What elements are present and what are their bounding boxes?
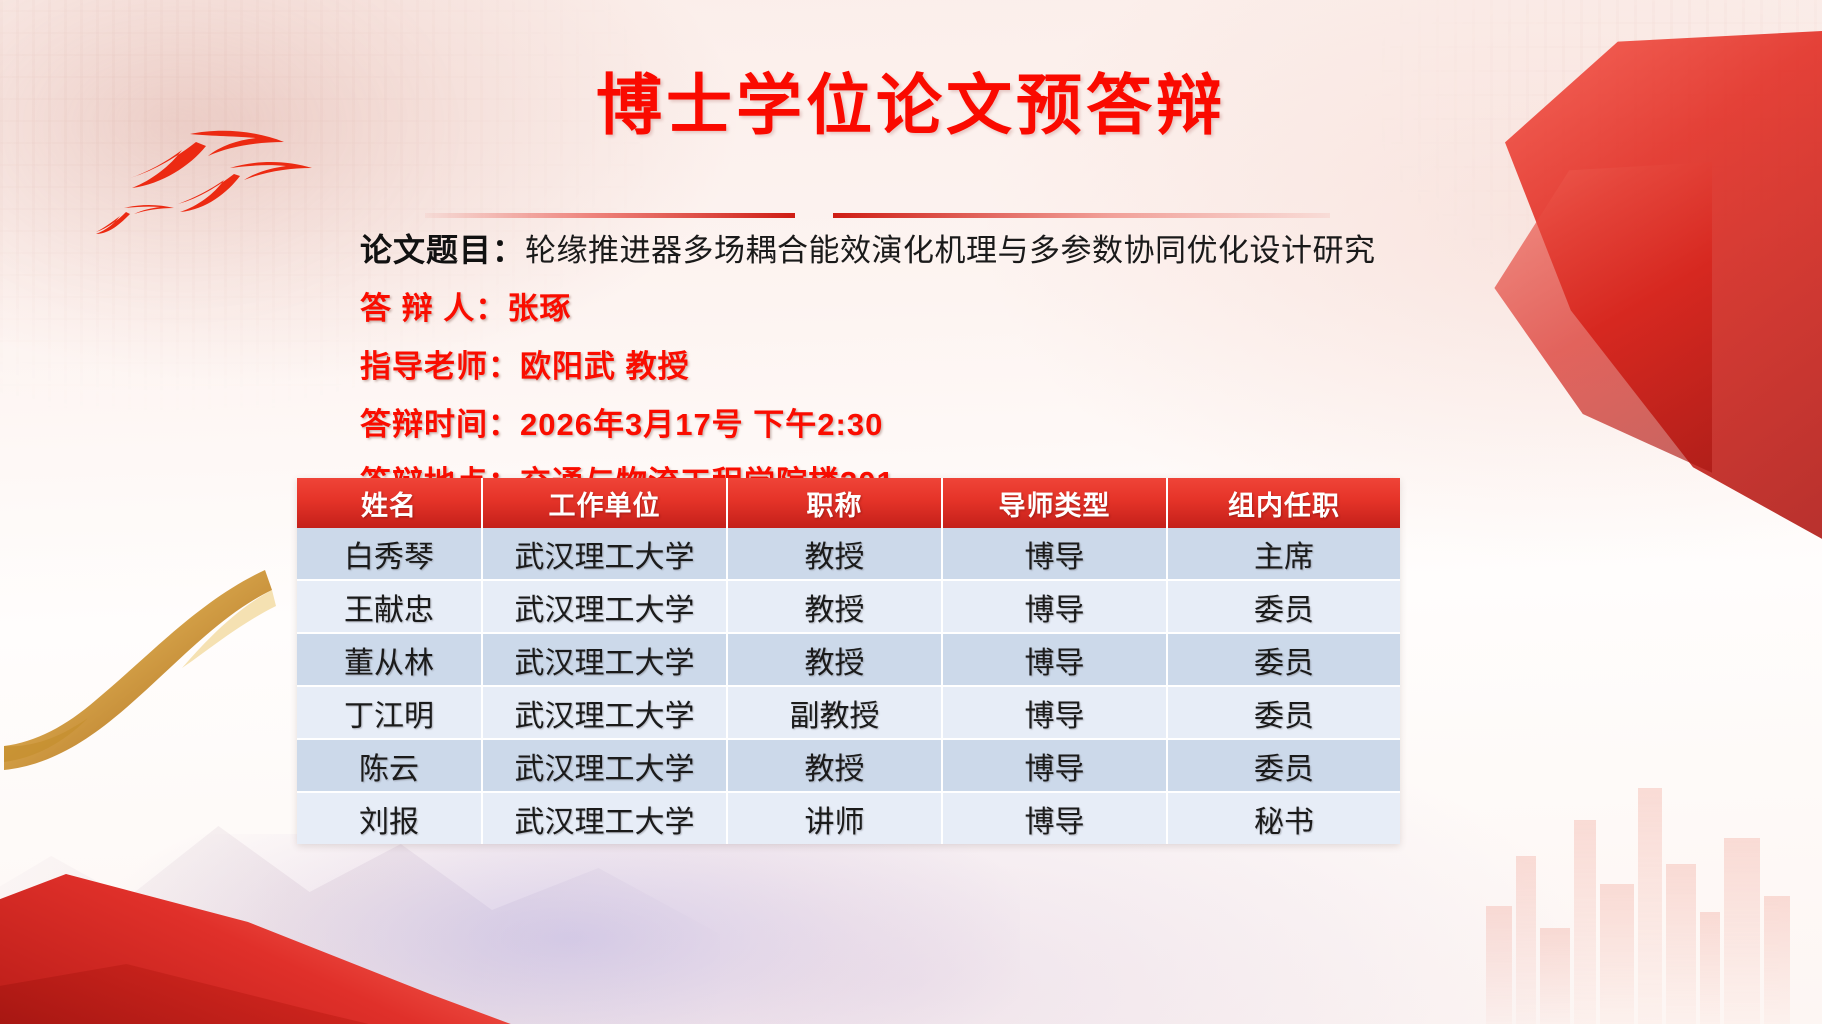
table-row: 陈云 武汉理工大学 教授 博导 委员 — [297, 739, 1400, 792]
table-row: 刘报 武汉理工大学 讲师 博导 秘书 — [297, 792, 1400, 844]
table-row: 王献忠 武汉理工大学 教授 博导 委员 — [297, 580, 1400, 633]
cell-name: 刘报 — [297, 792, 482, 844]
table-row: 董从林 武汉理工大学 教授 博导 委员 — [297, 633, 1400, 686]
column-header-name: 姓名 — [297, 478, 482, 528]
cell-title: 副教授 — [727, 686, 942, 739]
table-header-row: 姓名 工作单位 职称 导师类型 组内任职 — [297, 478, 1400, 528]
committee-table: 姓名 工作单位 职称 导师类型 组内任职 白秀琴 武汉理工大学 教授 博导 主席… — [297, 478, 1400, 844]
cell-name: 丁江明 — [297, 686, 482, 739]
divider-segment-left — [425, 213, 795, 218]
cell-role: 秘书 — [1167, 792, 1400, 844]
city-skyline-icon — [1482, 734, 1812, 1024]
page-title: 博士学位论文预答辩 — [0, 52, 1822, 148]
divider-gap — [795, 213, 833, 218]
cell-institution: 武汉理工大学 — [482, 580, 727, 633]
cell-title: 讲师 — [727, 792, 942, 844]
column-header-advisor-type: 导师类型 — [942, 478, 1167, 528]
presentation-slide: 博士学位论文预答辩 论文题目：轮缘推进器多场耦合能效演化机理与多参数协同优化设计… — [0, 0, 1822, 1024]
cell-advisor-type: 博导 — [942, 528, 1167, 580]
cell-institution: 武汉理工大学 — [482, 633, 727, 686]
table-row: 白秀琴 武汉理工大学 教授 博导 主席 — [297, 528, 1400, 580]
candidate-row: 答 辩 人：张琢 — [360, 283, 1410, 341]
table-row: 丁江明 武汉理工大学 副教授 博导 委员 — [297, 686, 1400, 739]
advisor-label: 指导老师： — [360, 349, 520, 384]
cell-advisor-type: 博导 — [942, 792, 1167, 844]
time-value: 2026年3月17号 下午2:30 — [520, 407, 883, 442]
cell-institution: 武汉理工大学 — [482, 686, 727, 739]
cell-advisor-type: 博导 — [942, 633, 1167, 686]
time-label: 答辩时间： — [360, 407, 520, 442]
cell-advisor-type: 博导 — [942, 686, 1167, 739]
bottom-glow-decoration — [120, 834, 1020, 1024]
time-row: 答辩时间：2026年3月17号 下午2:30 — [360, 399, 1410, 457]
candidate-label: 答 辩 人： — [360, 291, 507, 326]
cell-institution: 武汉理工大学 — [482, 739, 727, 792]
cell-title: 教授 — [727, 739, 942, 792]
cell-title: 教授 — [727, 580, 942, 633]
cell-name: 董从林 — [297, 633, 482, 686]
cell-institution: 武汉理工大学 — [482, 528, 727, 580]
cell-role: 委员 — [1167, 686, 1400, 739]
candidate-value: 张琢 — [507, 291, 571, 326]
cell-name: 王献忠 — [297, 580, 482, 633]
cell-institution: 武汉理工大学 — [482, 792, 727, 844]
thesis-title-label: 论文题目： — [360, 232, 525, 268]
thesis-title-value: 轮缘推进器多场耦合能效演化机理与多参数协同优化设计研究 — [525, 233, 1376, 268]
cell-advisor-type: 博导 — [942, 739, 1167, 792]
divider-segment-right — [833, 213, 1330, 218]
column-header-institution: 工作单位 — [482, 478, 727, 528]
cell-role: 委员 — [1167, 739, 1400, 792]
cell-advisor-type: 博导 — [942, 580, 1167, 633]
cell-title: 教授 — [727, 633, 942, 686]
committee-table-wrapper: 姓名 工作单位 职称 导师类型 组内任职 白秀琴 武汉理工大学 教授 博导 主席… — [297, 478, 1400, 844]
decorative-divider — [425, 213, 1330, 218]
cell-name: 白秀琴 — [297, 528, 482, 580]
cell-title: 教授 — [727, 528, 942, 580]
cell-name: 陈云 — [297, 739, 482, 792]
column-header-title: 职称 — [727, 478, 942, 528]
cell-role: 主席 — [1167, 528, 1400, 580]
cell-role: 委员 — [1167, 580, 1400, 633]
advisor-row: 指导老师：欧阳武 教授 — [360, 341, 1410, 399]
advisor-value: 欧阳武 教授 — [520, 349, 690, 384]
thesis-title-row: 论文题目：轮缘推进器多场耦合能效演化机理与多参数协同优化设计研究 — [360, 224, 1410, 283]
column-header-role: 组内任职 — [1167, 478, 1400, 528]
cell-role: 委员 — [1167, 633, 1400, 686]
